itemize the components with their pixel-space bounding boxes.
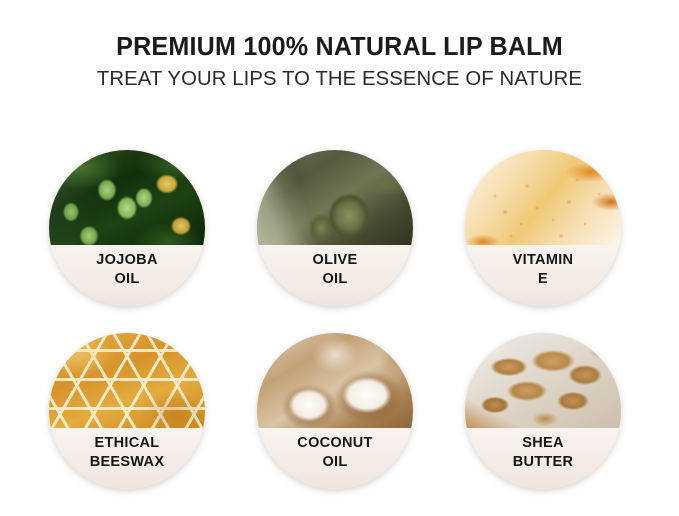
ingredient-circle: ETHICAL BEESWAX <box>49 333 205 489</box>
ingredient-label: VITAMIN E <box>465 245 621 306</box>
ingredients-row-bottom: ETHICAL BEESWAX COCONUT OIL <box>0 333 679 516</box>
ingredient-card-jojoba-oil: JOJOBA OIL <box>49 150 205 306</box>
ingredient-label: OLIVE OIL <box>257 245 413 306</box>
vitamin-e-oil-photo <box>465 150 621 246</box>
ingredient-label-line2: BUTTER <box>513 453 574 472</box>
coconut-halves-photo <box>257 333 413 429</box>
ingredient-label-line1: SHEA <box>522 434 564 453</box>
ingredient-circle: SHEA BUTTER <box>465 333 621 489</box>
ingredient-label-line2: E <box>538 270 548 289</box>
ingredients-grid: JOJOBA OIL OLIVE OIL <box>0 150 679 516</box>
page-subtitle: TREAT YOUR LIPS TO THE ESSENCE OF NATURE <box>3 68 675 91</box>
product-infographic: PREMIUM 100% NATURAL LIP BALM TREAT YOUR… <box>0 0 679 509</box>
olive-branch-photo <box>257 150 413 246</box>
ingredient-label: JOJOBA OIL <box>49 245 205 306</box>
ingredient-circle: COCONUT OIL <box>257 333 413 489</box>
ingredient-label-line2: OIL <box>114 270 139 289</box>
ingredient-label-line2: OIL <box>322 453 347 472</box>
ingredient-card-olive-oil: OLIVE OIL <box>257 150 413 306</box>
ingredient-label-line2: BEESWAX <box>90 453 165 472</box>
honeycomb-photo <box>49 333 205 429</box>
shea-butter-chunks-photo <box>465 333 621 429</box>
ingredient-circle: JOJOBA OIL <box>49 150 205 306</box>
ingredients-row-top: JOJOBA OIL OLIVE OIL <box>0 150 679 333</box>
ingredient-label-line1: COCONUT <box>297 434 372 453</box>
ingredient-label-line1: VITAMIN <box>513 251 574 270</box>
ingredient-label-line1: ETHICAL <box>95 434 160 453</box>
ingredient-label-line1: OLIVE <box>312 251 357 270</box>
header: PREMIUM 100% NATURAL LIP BALM TREAT YOUR… <box>0 33 679 90</box>
ingredient-label-line1: JOJOBA <box>96 251 157 270</box>
ingredient-card-vitamin-e: VITAMIN E <box>465 150 621 306</box>
ingredient-label: COCONUT OIL <box>257 428 413 489</box>
ingredient-card-ethical-beeswax: ETHICAL BEESWAX <box>49 333 205 489</box>
ingredient-card-shea-butter: SHEA BUTTER <box>465 333 621 489</box>
ingredient-circle: VITAMIN E <box>465 150 621 306</box>
ingredient-card-coconut-oil: COCONUT OIL <box>257 333 413 489</box>
ingredient-circle: OLIVE OIL <box>257 150 413 306</box>
ingredient-label: ETHICAL BEESWAX <box>49 428 205 489</box>
ingredient-label: SHEA BUTTER <box>465 428 621 489</box>
page-title: PREMIUM 100% NATURAL LIP BALM <box>5 33 674 62</box>
ingredient-label-line2: OIL <box>322 270 347 289</box>
jojoba-plant-photo <box>49 150 205 246</box>
